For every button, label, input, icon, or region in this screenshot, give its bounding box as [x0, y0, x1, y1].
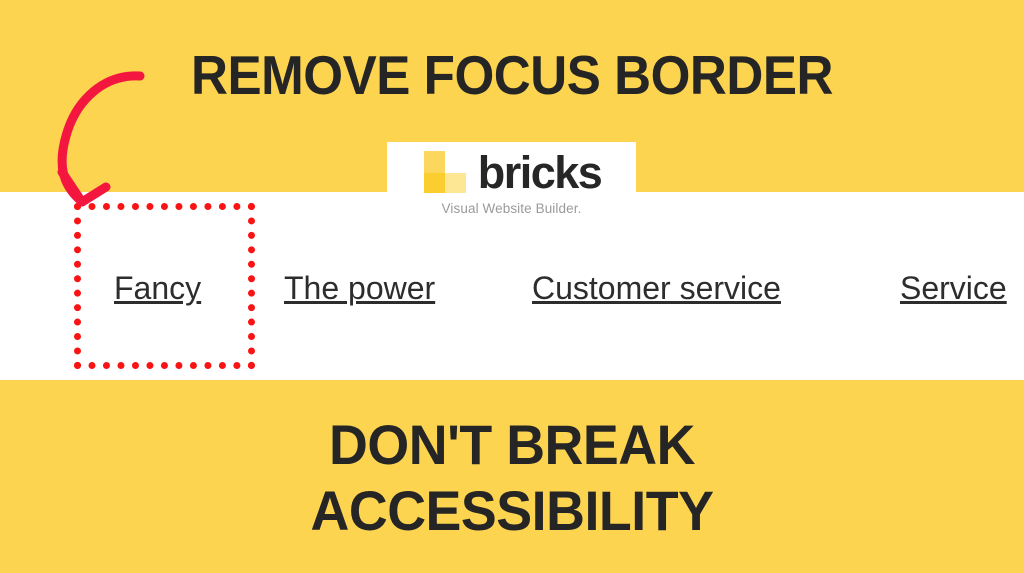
bricks-logo-icon	[422, 151, 466, 193]
nav-item-customer-service[interactable]: Customer service	[532, 262, 781, 314]
headline-bottom-line-1: DON'T BREAK	[20, 412, 1003, 478]
brand-logo-card: bricks Visual Website Builder.	[387, 142, 636, 230]
brick-square-bottom-right	[445, 173, 466, 193]
slide-canvas: REMOVE FOCUS BORDER bricks Visual Websit…	[0, 0, 1024, 573]
focus-outline-highlight	[74, 203, 255, 369]
headline-bottom: DON'T BREAK ACCESSIBILITY	[20, 412, 1003, 543]
brand-tagline: Visual Website Builder.	[442, 201, 582, 216]
brick-square-top-left	[424, 151, 445, 173]
logo-row: bricks	[422, 148, 602, 196]
brick-square-bottom-left	[424, 173, 445, 193]
headline-bottom-line-2: ACCESSIBILITY	[20, 478, 1003, 544]
nav-item-service[interactable]: Service	[900, 262, 1007, 314]
headline-top: REMOVE FOCUS BORDER	[36, 48, 988, 103]
nav-item-the-power[interactable]: The power	[284, 262, 435, 314]
brand-wordmark: bricks	[478, 150, 602, 195]
